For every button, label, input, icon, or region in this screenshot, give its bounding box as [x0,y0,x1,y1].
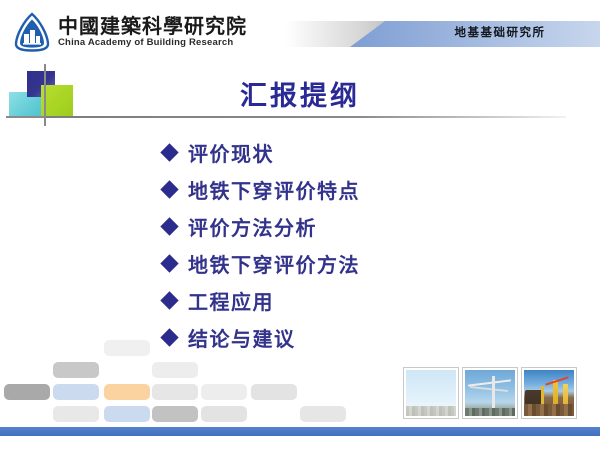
decor-block [104,406,150,422]
diamond-bullet-icon [160,217,178,235]
decor-block-pattern [0,340,420,430]
decor-block [152,362,198,378]
list-item[interactable]: 评价方法分析 [163,208,583,245]
list-item[interactable]: 地铁下穿评价方法 [163,245,583,282]
list-item-label: 评价现状 [188,138,274,167]
decor-block [104,340,150,356]
footer-white-strip [0,436,600,450]
diamond-bullet-icon [160,180,178,198]
logo-wordmark: 中國建築科學研究院 China Academy of Building Rese… [58,16,247,48]
institute-badge-label: 地基基础研究所 [410,24,590,40]
slide-header: 中國建築科學研究院 China Academy of Building Rese… [0,0,600,62]
organization-logo: 中國建築科學研究院 China Academy of Building Rese… [12,12,247,52]
decor-block [152,406,198,422]
title-underline-rule [46,116,566,118]
decor-block [300,406,346,422]
list-item-label: 工程应用 [188,286,274,315]
photo-construction-site [521,367,577,419]
slide-title: 汇报提纲 [0,74,600,113]
decor-block [104,384,150,400]
logo-name-en: China Academy of Building Research [58,38,247,48]
decor-block [53,362,99,378]
diamond-bullet-icon [160,254,178,272]
academy-shield-logo-icon [12,12,52,52]
photo-city-skyline [403,367,459,419]
decor-block [251,384,297,400]
list-item[interactable]: 评价现状 [163,134,583,171]
decor-block [201,384,247,400]
outline-bullet-list: 评价现状 地铁下穿评价特点 评价方法分析 地铁下穿评价方法 工程应用 结论与建议 [163,134,583,356]
list-item[interactable]: 地铁下穿评价特点 [163,171,583,208]
footer-blue-bar [0,427,600,436]
decor-block [152,384,198,400]
decor-block [201,406,247,422]
presentation-slide: 中國建築科學研究院 China Academy of Building Rese… [0,0,600,450]
logo-name-cn: 中國建築科學研究院 [58,16,247,36]
list-item-label: 地铁下穿评价方法 [188,249,360,278]
diamond-bullet-icon [160,143,178,161]
decor-block [53,384,99,400]
decor-block [4,384,50,400]
photo-strip [403,367,577,419]
list-item-label: 地铁下穿评价特点 [188,175,360,204]
photo-tower-crane [462,367,518,419]
list-item[interactable]: 工程应用 [163,282,583,319]
list-item-label: 评价方法分析 [188,212,317,241]
diamond-bullet-icon [160,291,178,309]
decor-block [53,406,99,422]
